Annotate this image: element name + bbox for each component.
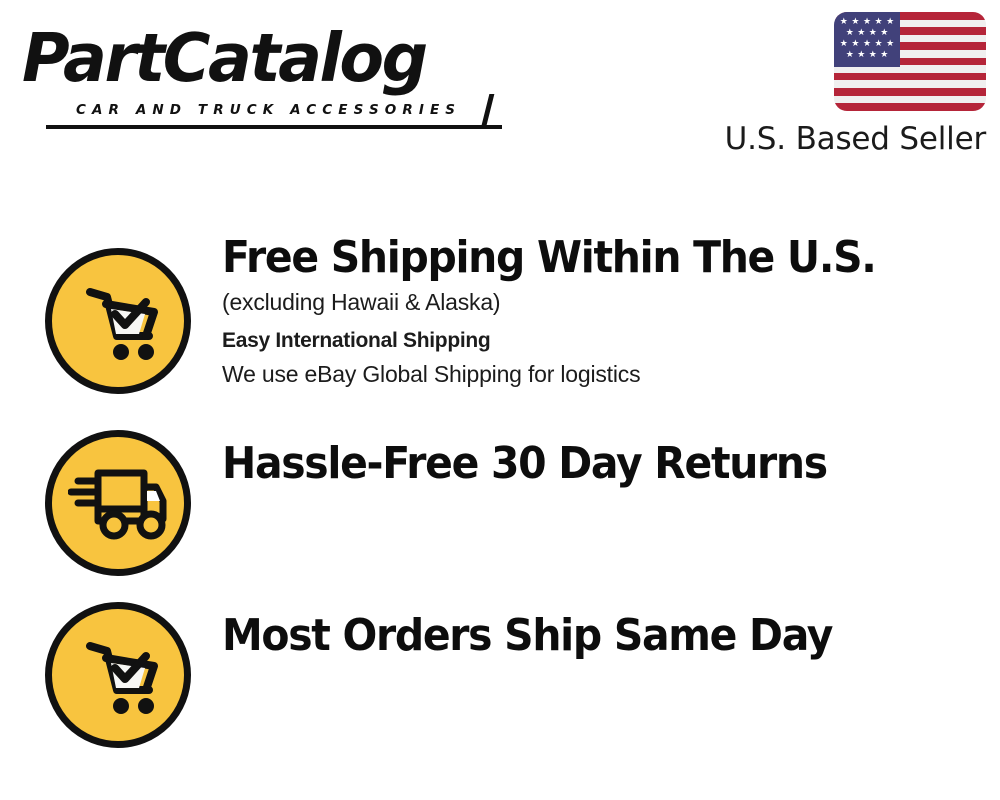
brand-wordmark: PartCatalog [22,22,478,94]
shopping-cart-check-icon [45,248,191,394]
brand-logo: PartCatalog CAR AND TRUCK ACCESSORIES [22,22,492,117]
flag-star-row: ★★★★ [838,29,896,38]
flag-canton: ★★★★★ ★★★★ ★★★★★ ★★★★ [834,12,900,67]
flag-star-row: ★★★★ [838,51,896,60]
benefit-sub-note: (excluding Hawaii & Alaska) [222,286,982,318]
brand-underline-tail [481,94,495,129]
benefit-headline: Most Orders Ship Same Day [222,610,929,662]
shopping-cart-check-icon [45,602,191,748]
flag-star-row: ★★★★★ [838,40,896,49]
flag-star-grid: ★★★★★ ★★★★ ★★★★★ ★★★★ [834,12,900,67]
benefit-text: Free Shipping Within The U.S. (excluding… [222,236,982,390]
benefit-sub-detail: We use eBay Global Shipping for logistic… [222,358,982,390]
benefit-headline: Free Shipping Within The U.S. [222,232,929,284]
benefit-text: Most Orders Ship Same Day [222,590,982,662]
us-based-seller-block: ★★★★★ ★★★★ ★★★★★ ★★★★ U.S. Based Seller [706,12,986,157]
brand-underline-rule [46,125,502,129]
benefit-sub-strong: Easy International Shipping [222,324,982,358]
seller-label: U.S. Based Seller [706,121,986,157]
benefit-text: Hassle-Free 30 Day Returns [222,418,982,490]
benefit-headline: Hassle-Free 30 Day Returns [222,438,929,490]
flag-star-row: ★★★★★ [838,18,896,27]
us-flag-icon: ★★★★★ ★★★★ ★★★★★ ★★★★ [834,12,986,111]
delivery-truck-icon [45,430,191,576]
brand-tagline: CAR AND TRUCK ACCESSORIES [76,102,461,118]
